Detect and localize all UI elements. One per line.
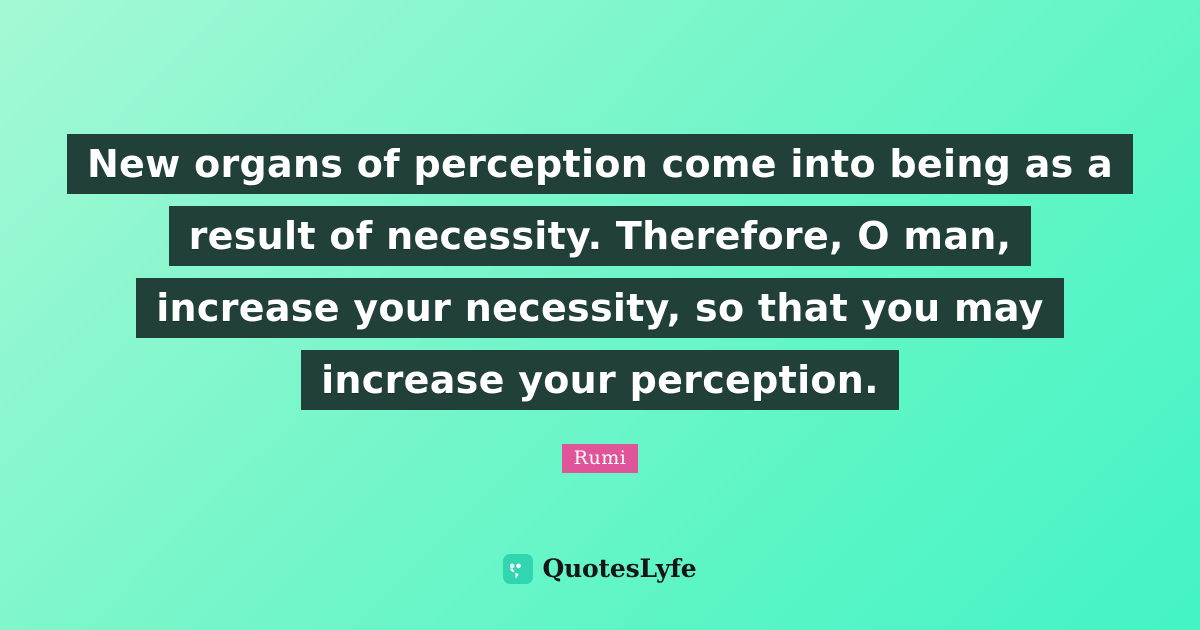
quote-line-wrapper: result of necessity. Therefore, O man, — [0, 206, 1200, 266]
quote-line-wrapper: increase your perception. — [0, 350, 1200, 410]
quote-text-block: New organs of perception come into being… — [0, 134, 1200, 422]
quote-line-4: increase your perception. — [301, 350, 899, 410]
quote-line-2: result of necessity. Therefore, O man, — [169, 206, 1032, 266]
quote-line-1: New organs of perception come into being… — [67, 134, 1133, 194]
quote-line-wrapper: increase your necessity, so that you may — [0, 278, 1200, 338]
brand-name: QuotesLyfe — [542, 554, 696, 584]
quote-line-3: increase your necessity, so that you may — [136, 278, 1064, 338]
brand-logo[interactable]: QuotesLyfe — [0, 554, 1200, 584]
quote-bubble-icon — [503, 554, 533, 584]
author-attribution: Rumi — [0, 444, 1200, 473]
quote-card: New organs of perception come into being… — [0, 0, 1200, 630]
quote-line-wrapper: New organs of perception come into being… — [0, 134, 1200, 194]
author-name-badge: Rumi — [562, 444, 639, 473]
